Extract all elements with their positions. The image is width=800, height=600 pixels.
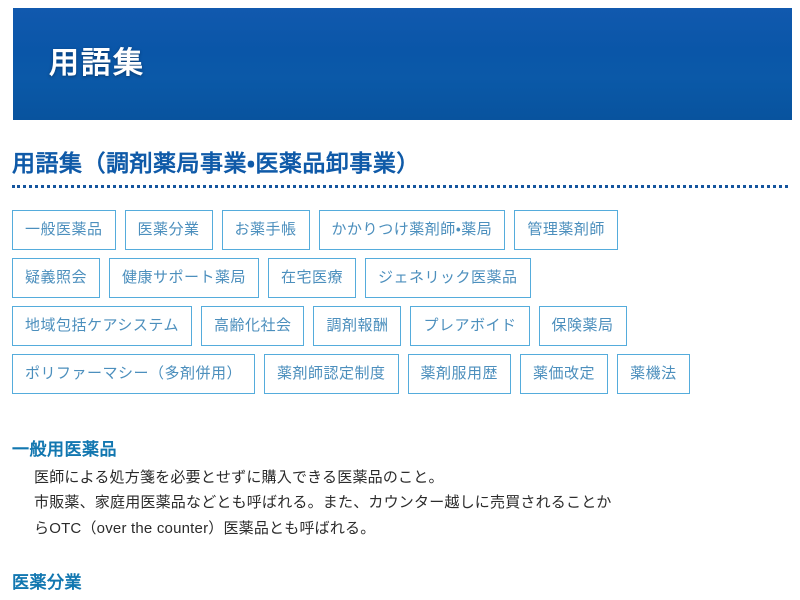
tag-generic-iyakuhin[interactable]: ジェネリック医薬品 [365,258,531,298]
hero-title: 用語集 [49,46,145,82]
entry-term-iyaku-bungyo: 医薬分業 [12,570,790,596]
entry-line: らOTC（over the counter）医薬品とも呼ばれる。 [34,516,790,542]
hero-banner: 用語集 [13,8,792,120]
tag-yakukiho[interactable]: 薬機法 [617,354,690,394]
page-title: 用語集（調剤薬局事業・医薬品卸事業） [12,150,788,176]
tag-row: 一般医薬品 医薬分業 お薬手帳 かかりつけ薬剤師・薬局 管理薬剤師 [12,210,790,250]
glossary-entry: 医薬分業 [12,570,790,596]
tag-zaitaku-iryo[interactable]: 在宅医療 [268,258,356,298]
tag-okusuri-techo[interactable]: お薬手帳 [222,210,310,250]
entry-term-ippanyo-iyakuhin: 一般用医薬品 [12,437,790,463]
entry-line: 医師による処方箋を必要とせずに購入できる医薬品のこと。 [34,465,790,491]
tag-gigi-shokai[interactable]: 疑義照会 [12,258,100,298]
tag-yakuzaishi-nintei[interactable]: 薬剤師認定制度 [264,354,399,394]
tag-row: ポリファーマシー（多剤併用） 薬剤師認定制度 薬剤服用歴 薬価改定 薬機法 [12,354,790,394]
tag-iyaku-bungyo[interactable]: 医薬分業 [125,210,213,250]
glossary-entry-list: 一般用医薬品 医師による処方箋を必要とせずに購入できる医薬品のこと。 市販薬、家… [12,437,790,597]
entry-definition: 医師による処方箋を必要とせずに購入できる医薬品のこと。 市販薬、家庭用医薬品など… [34,465,790,542]
tag-koreika-shakai[interactable]: 高齢化社会 [201,306,305,346]
tag-yakuzai-fukuyo-reki[interactable]: 薬剤服用歴 [408,354,512,394]
tag-polypharmacy[interactable]: ポリファーマシー（多剤併用） [12,354,255,394]
tag-yakka-kaitei[interactable]: 薬価改定 [520,354,608,394]
tag-kanri-yakuzaishi[interactable]: 管理薬剤師 [514,210,618,250]
glossary-tag-list: 一般医薬品 医薬分業 お薬手帳 かかりつけ薬剤師・薬局 管理薬剤師 疑義照会 健… [12,210,790,402]
tag-kakaritsuke-yakuzaishi[interactable]: かかりつけ薬剤師・薬局 [319,210,506,250]
tag-pre-avoid[interactable]: プレアボイド [410,306,529,346]
tag-chiiki-hokatsu-care[interactable]: 地域包括ケアシステム [12,306,192,346]
glossary-entry: 一般用医薬品 医師による処方箋を必要とせずに購入できる医薬品のこと。 市販薬、家… [12,437,790,542]
tag-hoken-yakkyoku[interactable]: 保険薬局 [539,306,627,346]
entry-line: 市販薬、家庭用医薬品などとも呼ばれる。また、カウンター越しに売買されることか [34,490,790,516]
tag-chozai-hoshu[interactable]: 調剤報酬 [313,306,401,346]
entry-spacer [12,544,790,570]
section-heading-block: 用語集（調剤薬局事業・医薬品卸事業） [12,150,788,188]
tag-row: 疑義照会 健康サポート薬局 在宅医療 ジェネリック医薬品 [12,258,790,298]
tag-row: 地域包括ケアシステム 高齢化社会 調剤報酬 プレアボイド 保険薬局 [12,306,790,346]
tag-kenko-support-yakkyoku[interactable]: 健康サポート薬局 [109,258,259,298]
tag-ippan-iyakuhin[interactable]: 一般医薬品 [12,210,116,250]
glossary-page: 用語集 用語集（調剤薬局事業・医薬品卸事業） 一般医薬品 医薬分業 お薬手帳 か… [0,0,800,600]
